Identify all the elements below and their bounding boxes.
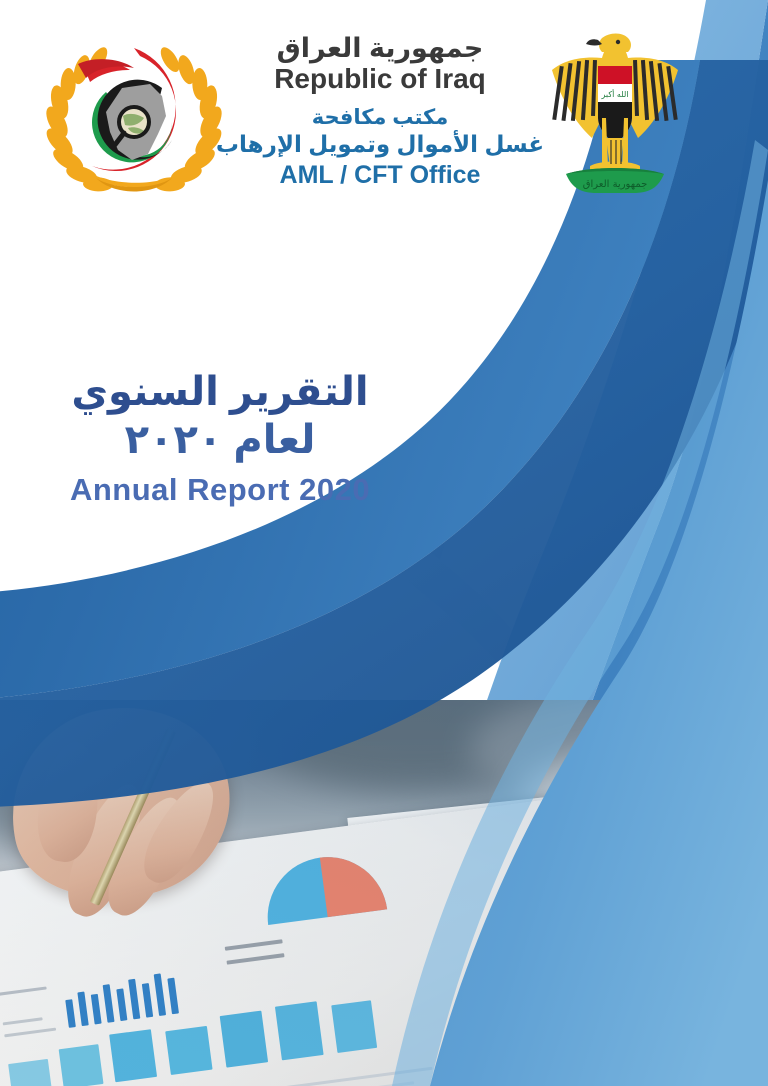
report-cover-page: الله أكبر جمهورية العراق جمهورية العراق: [0, 0, 768, 1086]
pen: [90, 728, 176, 906]
desk-documents-photo: [0, 700, 768, 1086]
background-swirl-pale: [0, 452, 600, 1086]
scroll-banner: جمهورية العراق: [566, 168, 664, 193]
eagle-head: [599, 34, 631, 53]
document-sheet-right: [347, 783, 702, 1076]
report-title-arabic-line1: التقرير السنوي: [20, 370, 420, 415]
report-title-english: Annual Report 2020: [20, 472, 420, 508]
report-title-arabic-line2: لعام ٢٠٢٠: [20, 417, 420, 464]
office-name-arabic-line2: غسل الأموال وتمويل الإرهاب: [200, 132, 560, 157]
curve-right-highlight: [392, 140, 768, 1086]
office-name-english: AML / CFT Office: [200, 162, 560, 189]
curve-right-sweep: [430, 180, 768, 1086]
office-name-arabic-line1: مكتب مكافحة: [200, 107, 560, 130]
hand: [0, 700, 247, 919]
eagle-of-saladin-emblem: الله أكبر جمهورية العراق: [540, 26, 690, 206]
shield-text: الله أكبر: [601, 89, 629, 99]
header-text-block: جمهورية العراق Republic of Iraq مكتب مكا…: [200, 34, 560, 189]
document-sheet-main: [0, 788, 677, 1086]
aml-cft-office-logo: [44, 30, 224, 205]
country-name-english: Republic of Iraq: [200, 64, 560, 94]
scroll-text: جمهورية العراق: [583, 179, 648, 190]
report-title-block: التقرير السنوي لعام ٢٠٢٠ Annual Report 2…: [20, 370, 420, 508]
country-name-arabic: جمهورية العراق: [200, 34, 560, 63]
background-swirl-pale-2: [0, 490, 585, 1086]
